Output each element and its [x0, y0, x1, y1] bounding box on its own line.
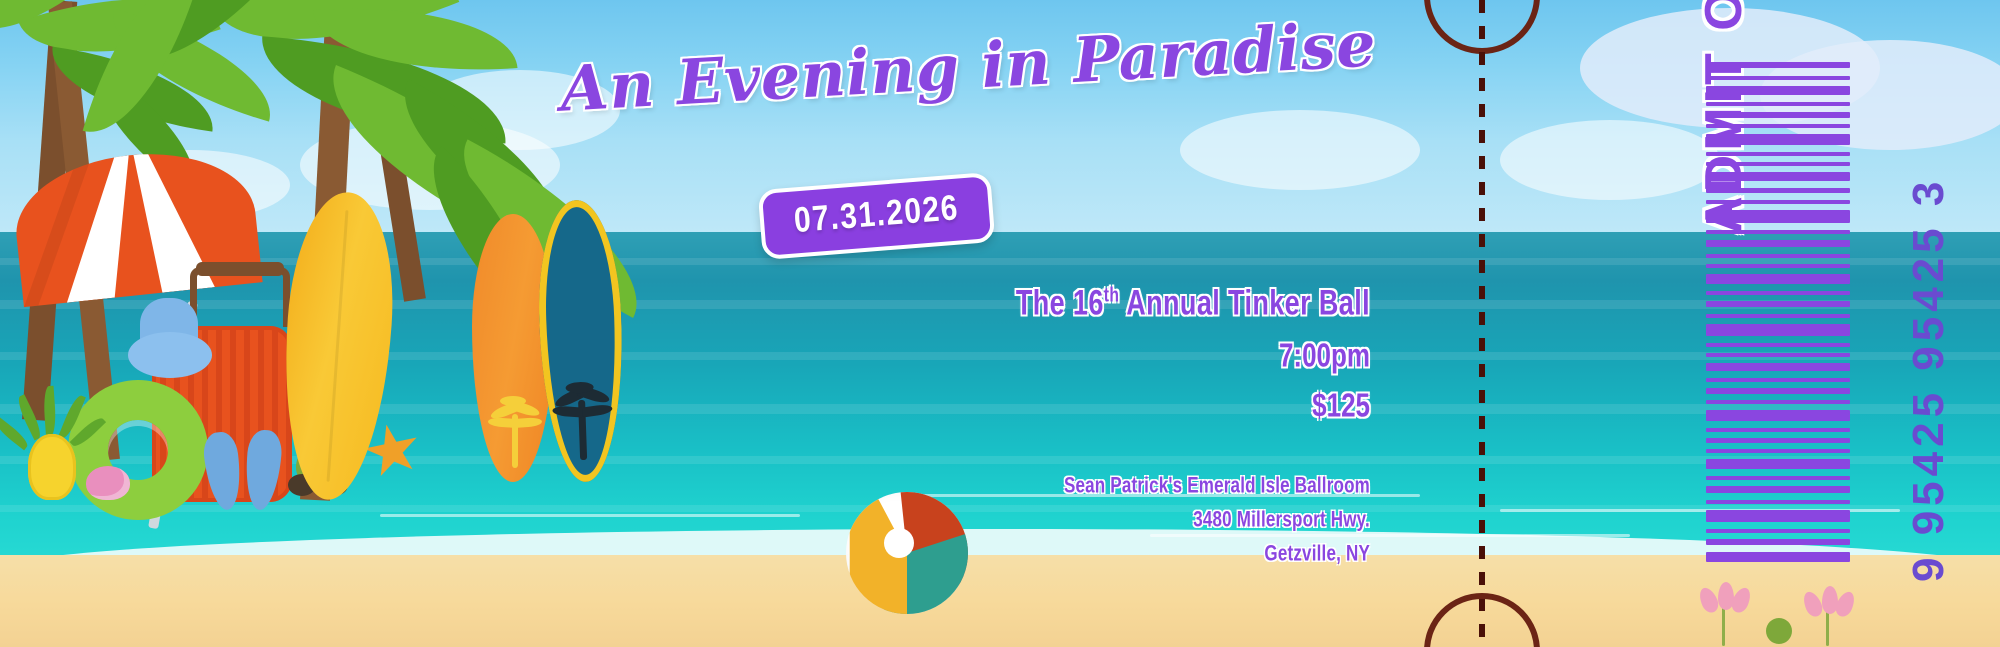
cloud-icon: [1500, 120, 1720, 200]
swim-ring-icon: [68, 380, 208, 520]
seashell-icon: [86, 466, 130, 500]
event-date: 07.31.2026: [793, 189, 961, 242]
sun-hat-brim: [128, 332, 212, 378]
pineapple-icon: [28, 434, 76, 500]
event-name: The 16th Annual Tinker Ball: [880, 283, 1370, 323]
event-name-ordinal: th: [1104, 285, 1120, 307]
venue-street: 3480 Millersport Hwy.: [880, 507, 1370, 533]
suitcase-handle: [190, 267, 290, 327]
barcode-digits: 9 95425 95425 3: [1904, 22, 1956, 582]
barcode: [1706, 62, 1850, 562]
event-price: $125: [880, 385, 1370, 425]
event-ticket: An Evening in Paradise 07.31.2026 The 16…: [0, 0, 2000, 647]
venue-name: Sean Patrick's Emerald Isle Ballroom: [880, 473, 1370, 499]
cloud-icon: [1180, 110, 1420, 190]
coconut-icon: [1766, 618, 1792, 644]
flower-stem: [1722, 604, 1725, 646]
foam-line: [380, 514, 800, 517]
perforation-line: [1479, 0, 1485, 647]
venue-city: Getzville, NY: [880, 541, 1370, 567]
venue-block: Sean Patrick's Emerald Isle Ballroom 348…: [880, 476, 1370, 578]
suitcase-grip: [196, 262, 284, 276]
event-name-suffix: Annual Tinker Ball: [1119, 283, 1370, 322]
event-details: The 16th Annual Tinker Ball 7:00pm $125: [880, 288, 1370, 421]
event-name-prefix: The 16: [1016, 283, 1104, 322]
event-time: 7:00pm: [880, 335, 1370, 375]
